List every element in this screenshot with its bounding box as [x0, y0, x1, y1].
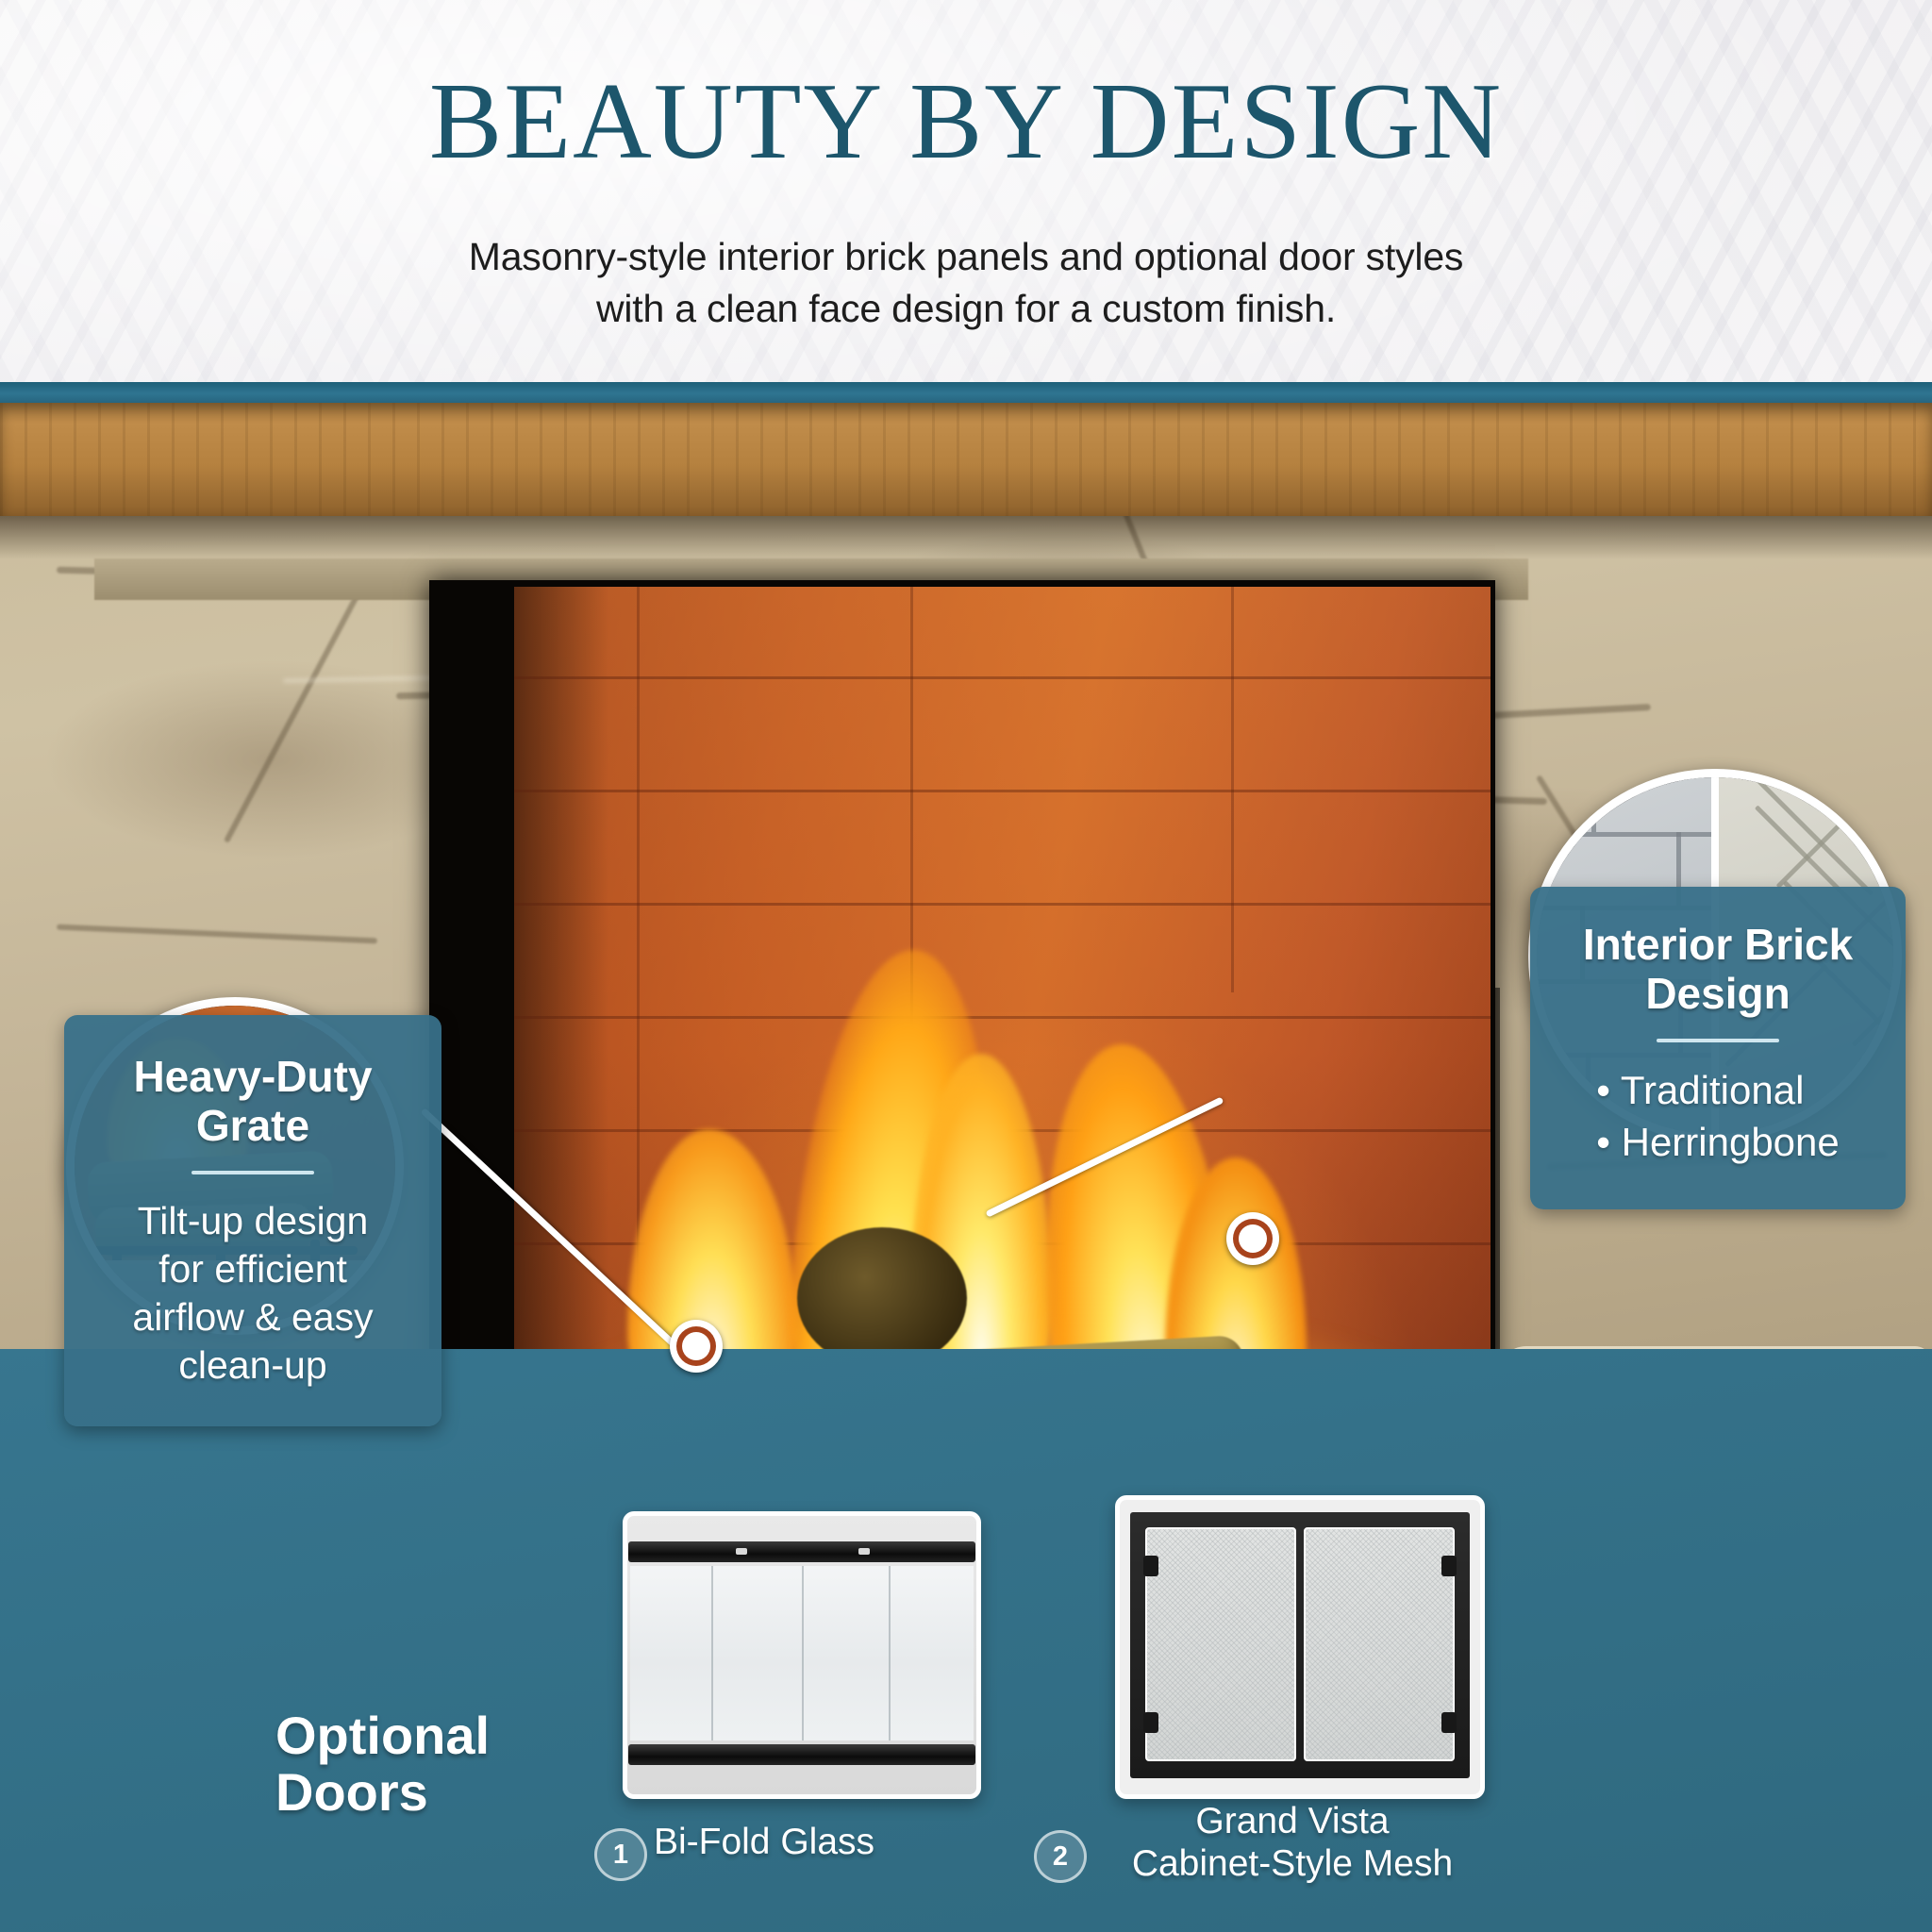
stone-seam	[224, 591, 361, 843]
header-band: BEAUTY BY DESIGN Masonry-style interior …	[0, 0, 1932, 382]
firebox-brick-seam	[1231, 587, 1234, 992]
firebox-brick-line	[514, 790, 1491, 792]
glass-divider	[711, 1566, 713, 1740]
door-bottom-bar	[628, 1744, 975, 1765]
mesh-panel-right	[1304, 1527, 1455, 1761]
callout-divider	[1657, 1039, 1779, 1042]
optional-doors-line-2: Doors	[275, 1764, 490, 1821]
fire-log	[797, 1227, 967, 1369]
mantel-shadow	[0, 516, 1932, 559]
glass-divider	[802, 1566, 804, 1740]
page-title: BEAUTY BY DESIGN	[0, 66, 1932, 177]
door-caption-2: Grand Vista Cabinet-Style Mesh	[1057, 1800, 1528, 1885]
header-divider-bar	[0, 382, 1932, 403]
door-handle	[858, 1548, 870, 1555]
callout-title: Interior Brick Design	[1530, 921, 1906, 1018]
callout-heavy-duty-grate: Heavy-Duty Grate Tilt-up design for effi…	[64, 1015, 441, 1426]
callout-title: Heavy-Duty Grate	[64, 1053, 441, 1150]
callout-interior-brick-design: Interior Brick Design Traditional Herrin…	[1530, 887, 1906, 1209]
callout-body-line-2: for efficient	[75, 1245, 430, 1293]
door-glass-panels	[630, 1566, 974, 1740]
brick-course-line	[1537, 832, 1715, 837]
callout-body: Tilt-up design for efficient airflow & e…	[64, 1197, 441, 1389]
stone-seam	[57, 924, 377, 944]
herringbone-line	[1776, 777, 1893, 889]
subtitle-line-1: Masonry-style interior brick panels and …	[0, 231, 1932, 283]
glass-divider	[889, 1566, 891, 1740]
grate-pointer-marker	[670, 1320, 723, 1373]
firebox-brick-line	[514, 903, 1491, 906]
mesh-panel-left	[1145, 1527, 1296, 1761]
optional-doors-label: Optional Doors	[275, 1707, 490, 1822]
door-handle	[736, 1548, 747, 1555]
door-caption-2-line-2: Cabinet-Style Mesh	[1057, 1842, 1528, 1885]
subtitle-line-2: with a clean face design for a custom fi…	[0, 283, 1932, 335]
brick-pointer-marker	[1226, 1212, 1279, 1265]
door-number-badge-1: 1	[594, 1828, 647, 1881]
callout-divider	[192, 1171, 314, 1174]
corner-bracket	[1441, 1712, 1457, 1733]
callout-title-line-2: Design	[1645, 969, 1790, 1018]
callout-body-line-4: clean-up	[75, 1341, 430, 1390]
bullet-item-herringbone: Herringbone	[1596, 1117, 1840, 1169]
callout-bullet-list: Traditional Herringbone	[1596, 1065, 1840, 1168]
firebox-brick-line	[514, 676, 1491, 679]
wood-mantel-beam	[0, 403, 1932, 516]
door-inner-frame	[1130, 1512, 1470, 1778]
corner-bracket	[1441, 1556, 1457, 1576]
door-number-badge-2: 2	[1034, 1830, 1087, 1883]
callout-title-line-2: Grate	[196, 1101, 309, 1150]
callout-title-line-1: Interior Brick	[1583, 920, 1853, 969]
callout-body-line-3: airflow & easy	[75, 1293, 430, 1341]
corner-bracket	[1143, 1712, 1158, 1733]
optional-doors-line-1: Optional	[275, 1707, 490, 1764]
callout-body-line-1: Tilt-up design	[75, 1197, 430, 1245]
callout-title-line-1: Heavy-Duty	[133, 1052, 372, 1101]
bullet-item-traditional: Traditional	[1596, 1065, 1840, 1117]
door-image-grand-vista-mesh[interactable]	[1115, 1495, 1485, 1799]
door-top-bar	[628, 1541, 975, 1562]
corner-bracket	[1143, 1556, 1158, 1576]
infographic-page: BEAUTY BY DESIGN Masonry-style interior …	[0, 0, 1932, 1932]
header-subtitle: Masonry-style interior brick panels and …	[0, 231, 1932, 334]
door-caption-2-line-1: Grand Vista	[1057, 1800, 1528, 1842]
herringbone-line	[1717, 777, 1874, 896]
door-image-bi-fold-glass[interactable]	[623, 1511, 981, 1799]
brick-head-joint	[1591, 777, 1596, 832]
